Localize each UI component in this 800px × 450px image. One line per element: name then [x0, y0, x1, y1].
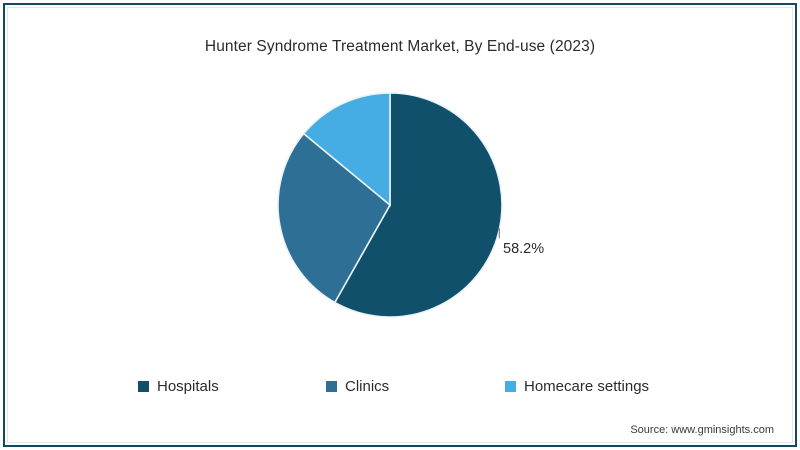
- source-attribution: Source: www.gminsights.com: [630, 424, 774, 436]
- pie-slice-label-hospitals: 58.2%: [503, 241, 544, 257]
- legend-swatch-icon: [326, 381, 337, 392]
- legend-item-hospitals[interactable]: Hospitals: [138, 374, 219, 398]
- legend-swatch-icon: [505, 381, 516, 392]
- legend-item-clinics[interactable]: Clinics: [326, 374, 389, 398]
- legend-swatch-icon: [138, 381, 149, 392]
- legend-item-homecare-settings[interactable]: Homecare settings: [505, 374, 649, 398]
- legend-item-label: Clinics: [345, 378, 389, 395]
- pie-slice-group: [278, 93, 502, 317]
- chart-figure: Hunter Syndrome Treatment Market, By End…: [0, 0, 800, 450]
- chart-legend: Hospitals Clinics Homecare settings: [100, 374, 700, 398]
- legend-item-label: Homecare settings: [524, 378, 649, 395]
- legend-item-label: Hospitals: [157, 378, 219, 395]
